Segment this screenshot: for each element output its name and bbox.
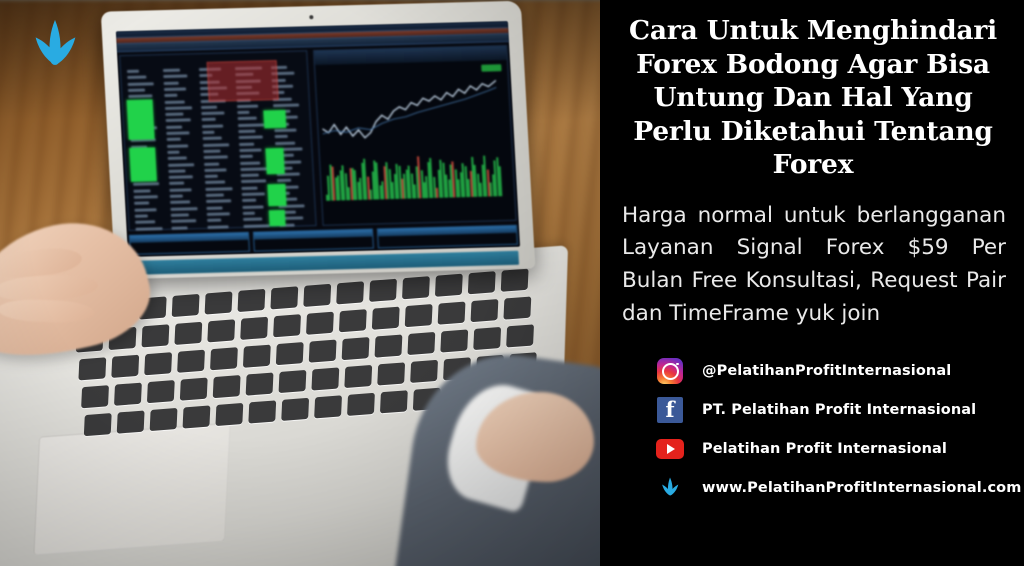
quote-cell-text	[238, 123, 264, 127]
quote-cell-text	[165, 100, 185, 104]
quote-cell-text	[243, 218, 262, 221]
quote-cell-text	[163, 69, 180, 72]
quote-cell-text	[243, 224, 269, 228]
keyboard-key	[215, 403, 243, 426]
quote-cell-text	[238, 130, 255, 133]
quote-cell-text	[242, 205, 263, 209]
keyboard-key	[117, 410, 145, 433]
quote-cell-text	[207, 219, 221, 222]
quote-cell-text	[202, 131, 214, 134]
quote-cell-text	[168, 163, 194, 167]
gainer-cell	[269, 210, 286, 226]
keyboard-key	[473, 327, 501, 350]
quote-cell-text	[240, 155, 253, 158]
keyboard-key	[276, 342, 304, 365]
quote-cell-text	[204, 162, 219, 165]
quote-cell-text	[171, 219, 196, 223]
keyboard-key	[303, 284, 331, 307]
quote-cell-text	[241, 186, 257, 189]
quote-cell-text	[239, 136, 263, 140]
keyboard-key	[205, 291, 233, 314]
quote-cell-text	[203, 143, 229, 147]
keyboard-key	[435, 274, 463, 297]
quote-cell-text	[166, 125, 182, 128]
quote-cell-text	[203, 137, 222, 140]
keyboard-key	[174, 322, 202, 345]
keyboard-key	[405, 304, 433, 327]
keyboard-key	[78, 357, 106, 380]
keyboard-key	[506, 324, 534, 347]
quote-cell-text	[170, 207, 197, 211]
quote-cell-text	[239, 148, 261, 152]
quote-cell-text	[169, 182, 184, 185]
keyboard-key	[410, 360, 438, 383]
quote-cell-text	[274, 129, 296, 133]
keyboard-key	[150, 408, 178, 431]
youtube-icon[interactable]	[656, 435, 684, 463]
quote-cell-text	[169, 175, 193, 179]
gainer-cell	[129, 147, 157, 182]
keyboard-key	[273, 314, 301, 337]
keyboard-key	[311, 367, 339, 390]
quote-cell-text	[165, 113, 183, 116]
laptop-trackpad	[33, 423, 230, 556]
quote-cell-text	[240, 161, 260, 165]
keyboard-key	[147, 380, 175, 403]
keyboard-key	[183, 405, 211, 428]
quote-cell-text	[203, 149, 220, 152]
quote-cell-text	[135, 214, 148, 217]
quote-cell-text	[128, 88, 145, 91]
chart-toolbar	[314, 46, 507, 65]
instagram-handle: @PelatihanProfitInternasional	[702, 363, 951, 379]
quote-cell-text	[128, 95, 152, 99]
keyboard-key	[347, 393, 375, 416]
social-row-website[interactable]: www.PelatihanProfitInternasional.com	[656, 469, 1014, 507]
quote-cell-text	[205, 187, 232, 191]
quote-cell-text	[239, 142, 254, 145]
content-panel: Cara Untuk Menghindari Forex Bodong Agar…	[600, 0, 1024, 566]
keyboard-key	[279, 370, 307, 393]
keyboard-key	[468, 271, 496, 294]
keyboard-key	[177, 350, 205, 373]
keyboard-key	[114, 383, 142, 406]
article-headline: Cara Untuk Menghindari Forex Bodong Agar…	[612, 14, 1014, 182]
website-url: www.PelatihanProfitInternasional.com	[702, 480, 1021, 496]
volume-histogram	[323, 142, 504, 201]
quote-cell-text	[134, 208, 156, 212]
quote-cell-text	[204, 156, 228, 160]
quote-cell-text	[273, 103, 299, 107]
youtube-channel-name: Pelatihan Profit Internasional	[702, 441, 947, 457]
social-row-instagram[interactable]: @PelatihanProfitInternasional	[656, 352, 1014, 390]
quote-cell-text	[206, 206, 222, 209]
quote-cell-text	[240, 167, 267, 171]
keyboard-key	[141, 324, 169, 347]
keyboard-key	[314, 395, 342, 418]
keyboard-key	[180, 378, 208, 401]
quote-cell-text	[170, 195, 183, 198]
quote-cell-text	[164, 94, 177, 97]
webcam-icon	[309, 15, 313, 19]
quote-cell-text	[243, 212, 255, 215]
laptop-lid	[101, 1, 536, 280]
facebook-icon[interactable]	[656, 396, 684, 424]
gainer-cell	[265, 148, 284, 174]
laptop-screen	[116, 21, 520, 257]
quote-cell-text	[164, 87, 186, 91]
quote-cell-text	[241, 180, 266, 184]
terminal-subwindow	[129, 232, 250, 255]
keyboard-key	[501, 269, 529, 292]
quote-cell-text	[205, 181, 225, 185]
quote-cell-text	[167, 138, 181, 141]
quote-cell-text	[171, 226, 187, 229]
keyboard-key	[377, 362, 405, 385]
chart-status-badge	[481, 64, 501, 72]
gainer-cell	[267, 184, 286, 206]
keyboard-key	[380, 390, 408, 413]
quote-cell-text	[204, 168, 226, 172]
quote-cell-text	[275, 141, 295, 145]
terminal-subwindow	[377, 225, 518, 249]
quote-cell-text	[169, 188, 191, 192]
keyboard-key	[375, 334, 403, 357]
quote-cell-text	[242, 192, 265, 196]
quote-cell-text	[237, 111, 249, 114]
quote-cell-text	[165, 106, 192, 110]
quote-cell-text	[237, 104, 258, 108]
price-chart-panel	[313, 45, 517, 226]
gainer-cell	[127, 99, 155, 140]
quote-cell-text	[135, 220, 155, 224]
quote-cell-text	[168, 169, 185, 172]
keyboard-key	[243, 345, 271, 368]
quote-cell-text	[275, 135, 288, 138]
quote-cell-text	[205, 175, 218, 178]
terminal-subwindow	[253, 229, 374, 252]
quote-cell-text	[207, 225, 228, 229]
keyboard-key	[248, 400, 276, 423]
quote-cell-text	[134, 202, 149, 205]
keyboard-key	[210, 347, 238, 370]
quote-cell-text	[163, 75, 187, 79]
keyboard-key	[309, 340, 337, 363]
quote-cell-text	[133, 183, 159, 187]
quote-cell-text	[277, 179, 291, 182]
article-banner: Cara Untuk Menghindari Forex Bodong Agar…	[0, 0, 1024, 566]
quote-cell-text	[167, 151, 179, 154]
keyboard-key	[111, 355, 139, 378]
facebook-page-name: PT. Pelatihan Profit Internasional	[702, 402, 976, 418]
quote-cell-text	[242, 199, 256, 202]
gainer-cell	[263, 110, 286, 129]
keyboard-key	[440, 329, 468, 352]
keyboard-key	[270, 286, 298, 309]
keyboard-key	[207, 319, 235, 342]
quote-cell-text	[167, 144, 188, 148]
keyboard-key	[172, 294, 200, 317]
lotus-icon	[24, 16, 86, 78]
keyboard-key	[372, 307, 400, 330]
social-row-youtube[interactable]: Pelatihan Profit Internasional	[656, 430, 1014, 468]
keyboard-key	[281, 398, 309, 421]
quote-cell-text	[135, 227, 162, 231]
keyboard-key	[407, 332, 435, 355]
quote-cell-text	[166, 131, 189, 135]
keyboard-key	[471, 299, 499, 322]
loser-cell-block	[207, 60, 279, 102]
quote-cell-text	[166, 119, 191, 123]
social-links-list: @PelatihanProfitInternasional PT. Pelati…	[612, 352, 1014, 507]
quote-cell-text	[127, 70, 139, 73]
price-line-series	[320, 74, 500, 145]
quote-cell-text	[164, 81, 179, 84]
quote-cell-text	[201, 112, 224, 116]
keyboard-key	[240, 317, 268, 340]
keyboard-key	[503, 296, 531, 319]
terminal-ui	[116, 21, 520, 257]
quote-cell-text	[241, 174, 259, 177]
website-lotus-icon[interactable]	[656, 474, 684, 502]
keyboard-key	[344, 365, 372, 388]
quote-cell-text	[206, 200, 231, 204]
keyboard-key	[237, 289, 265, 312]
keyboard-key	[84, 413, 112, 436]
keyboard-key	[438, 302, 466, 325]
quote-cell-text	[202, 124, 223, 128]
quote-cell-text	[134, 195, 158, 199]
keyboard-key	[81, 385, 109, 408]
keyboard-key	[342, 337, 370, 360]
keyboard-key	[144, 352, 172, 375]
keyboard-key	[306, 312, 334, 335]
volume-bar	[499, 166, 503, 196]
keyboard-key	[213, 375, 241, 398]
quote-cell-text	[207, 212, 230, 216]
quote-cell-text	[202, 118, 216, 121]
instagram-icon[interactable]	[656, 357, 684, 385]
keyboard-key	[339, 309, 367, 332]
quote-cell-text	[201, 105, 217, 108]
keyboard-key	[369, 279, 397, 302]
article-body: Harga normal untuk berlangganan Layanan …	[612, 200, 1014, 331]
quote-cell-text	[128, 82, 154, 86]
keyboard-key	[336, 281, 364, 304]
quote-cell-text	[127, 76, 146, 79]
keyboard-key	[246, 372, 274, 395]
quote-cell-text	[133, 189, 150, 192]
social-row-facebook[interactable]: PT. Pelatihan Profit Internasional	[656, 391, 1014, 429]
quote-cell-text	[238, 117, 257, 120]
quote-cell-text	[170, 201, 190, 205]
quote-cell-text	[171, 213, 189, 216]
hero-photo	[0, 0, 600, 566]
quote-cell-text	[206, 193, 224, 196]
keyboard-key	[402, 276, 430, 299]
quote-grid-panel	[119, 50, 317, 231]
quote-cell-text	[168, 157, 187, 160]
